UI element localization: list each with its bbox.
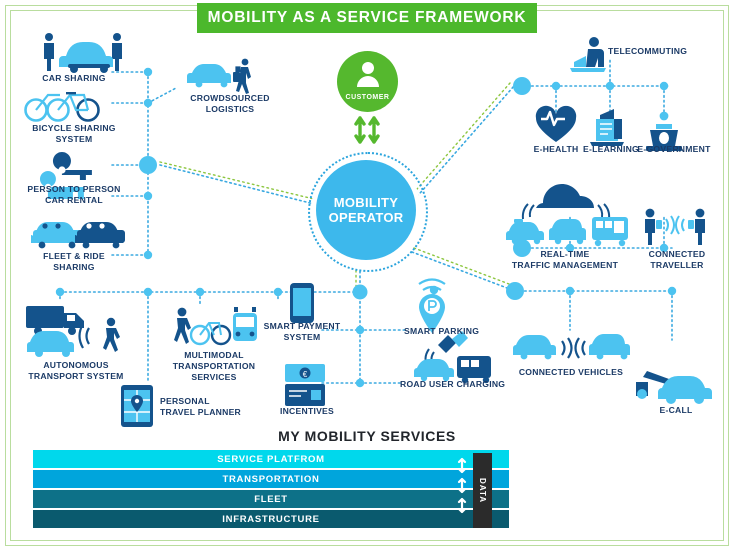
layer-label-infrastructure: INFRASTRUCTURE bbox=[222, 514, 319, 525]
bicycle-icon bbox=[26, 92, 99, 121]
layer-label-service-platform: SERVICE PLATFROM bbox=[217, 454, 324, 465]
satellite-vehicles-icon bbox=[414, 331, 491, 383]
laptop-book-icon bbox=[590, 109, 624, 146]
footer-title: MY MOBILITY SERVICES bbox=[0, 428, 734, 444]
operator-label: MOBILITY OPERATOR bbox=[329, 195, 404, 225]
node-label-car-sharing[interactable]: CAR SHARING bbox=[28, 73, 120, 84]
layer-bar-fleet[interactable]: FLEET bbox=[33, 490, 509, 508]
parking-pin-icon bbox=[419, 280, 445, 334]
two-cars-signal-icon bbox=[513, 334, 630, 359]
node-label-personal-travel-planner[interactable]: PERSONALTRAVEL PLANNER bbox=[160, 396, 264, 418]
layer-bar-transportation[interactable]: TRANSPORTATION bbox=[33, 470, 509, 488]
car-sharing-icon bbox=[44, 33, 122, 73]
layer-bar-infrastructure[interactable]: INFRASTRUCTURE bbox=[33, 510, 509, 528]
walk-bike-train-icon bbox=[174, 307, 257, 344]
node-label-e-government[interactable]: E-GOVERNMENT bbox=[634, 144, 714, 155]
node-label-connected-vehicles[interactable]: CONNECTED VEHICLES bbox=[506, 367, 636, 378]
layer-label-fleet: FLEET bbox=[254, 494, 288, 505]
data-column: DATA bbox=[473, 453, 492, 528]
customer-label: CUSTOMER bbox=[346, 94, 390, 101]
node-label-bicycle-sharing-system[interactable]: BICYCLE SHARINGSYSTEM bbox=[20, 123, 128, 145]
svg-text:€: € bbox=[303, 370, 308, 379]
two-cars-icon bbox=[31, 222, 125, 248]
operator-label-line1: MOBILITY bbox=[329, 195, 404, 210]
delivery-car-courier-icon bbox=[187, 59, 251, 94]
operator-label-line2: OPERATOR bbox=[329, 210, 404, 225]
two-people-phones-icon bbox=[645, 209, 705, 245]
smartphone-icon bbox=[290, 283, 314, 323]
infographic-canvas: MOBILITY AS A SERVICE FRAMEWORK .dl{stro… bbox=[0, 0, 734, 551]
node-label-multimodal-transportation-services[interactable]: MULTIMODALTRANSPORTATIONSERVICES bbox=[160, 350, 268, 383]
laptop-person-icon bbox=[570, 37, 606, 72]
up-down-arrows-icon bbox=[356, 118, 378, 142]
node-label-e-call[interactable]: E-CALL bbox=[646, 405, 706, 416]
node-label-telecommuting[interactable]: TELECOMMUTING bbox=[608, 46, 704, 57]
truck-car-pedestrian-icon bbox=[26, 306, 120, 357]
map-phone-icon bbox=[121, 385, 153, 427]
node-label-smart-parking[interactable]: SMART PARKING bbox=[404, 326, 504, 337]
node-label-real-time-traffic-management[interactable]: REAL-TIMETRAFFIC MANAGEMENT bbox=[504, 249, 626, 271]
node-label-road-user-charging[interactable]: ROAD USER CHARGING bbox=[400, 379, 518, 390]
mobility-operator-node[interactable]: MOBILITY OPERATOR bbox=[316, 160, 416, 260]
node-label-autonomous-transport-system[interactable]: AUTONOMOUSTRANSPORT SYSTEM bbox=[18, 360, 134, 382]
node-label-crowdsourced-logistics[interactable]: CROWDSOURCEDLOGISTICS bbox=[180, 93, 280, 115]
layer-bar-service-platform[interactable]: SERVICE PLATFROM bbox=[33, 450, 509, 468]
person-icon bbox=[353, 59, 383, 89]
node-label-connected-traveller[interactable]: CONNECTEDTRAVELLER bbox=[630, 249, 724, 271]
node-label-fleet-ride-sharing[interactable]: FLEET & RIDESHARING bbox=[26, 251, 122, 273]
node-label-incentives[interactable]: INCENTIVES bbox=[272, 406, 342, 417]
node-label-person-to-person-car-rental[interactable]: PERSON TO PERSONCAR RENTAL bbox=[18, 184, 130, 206]
money-card-icon: € bbox=[285, 364, 325, 406]
cloud-vehicles-icon bbox=[506, 184, 628, 246]
node-label-smart-payment-system[interactable]: SMART PAYMENTSYSTEM bbox=[254, 321, 350, 343]
layer-exchange-arrows-icon bbox=[455, 455, 469, 527]
layer-label-transportation: TRANSPORTATION bbox=[222, 474, 319, 485]
customer-node[interactable]: CUSTOMER bbox=[337, 51, 398, 112]
tow-truck-icon bbox=[636, 371, 712, 404]
data-column-label: DATA bbox=[478, 478, 487, 503]
layer-stack: SERVICE PLATFROM TRANSPORTATION FLEET IN… bbox=[33, 450, 509, 530]
